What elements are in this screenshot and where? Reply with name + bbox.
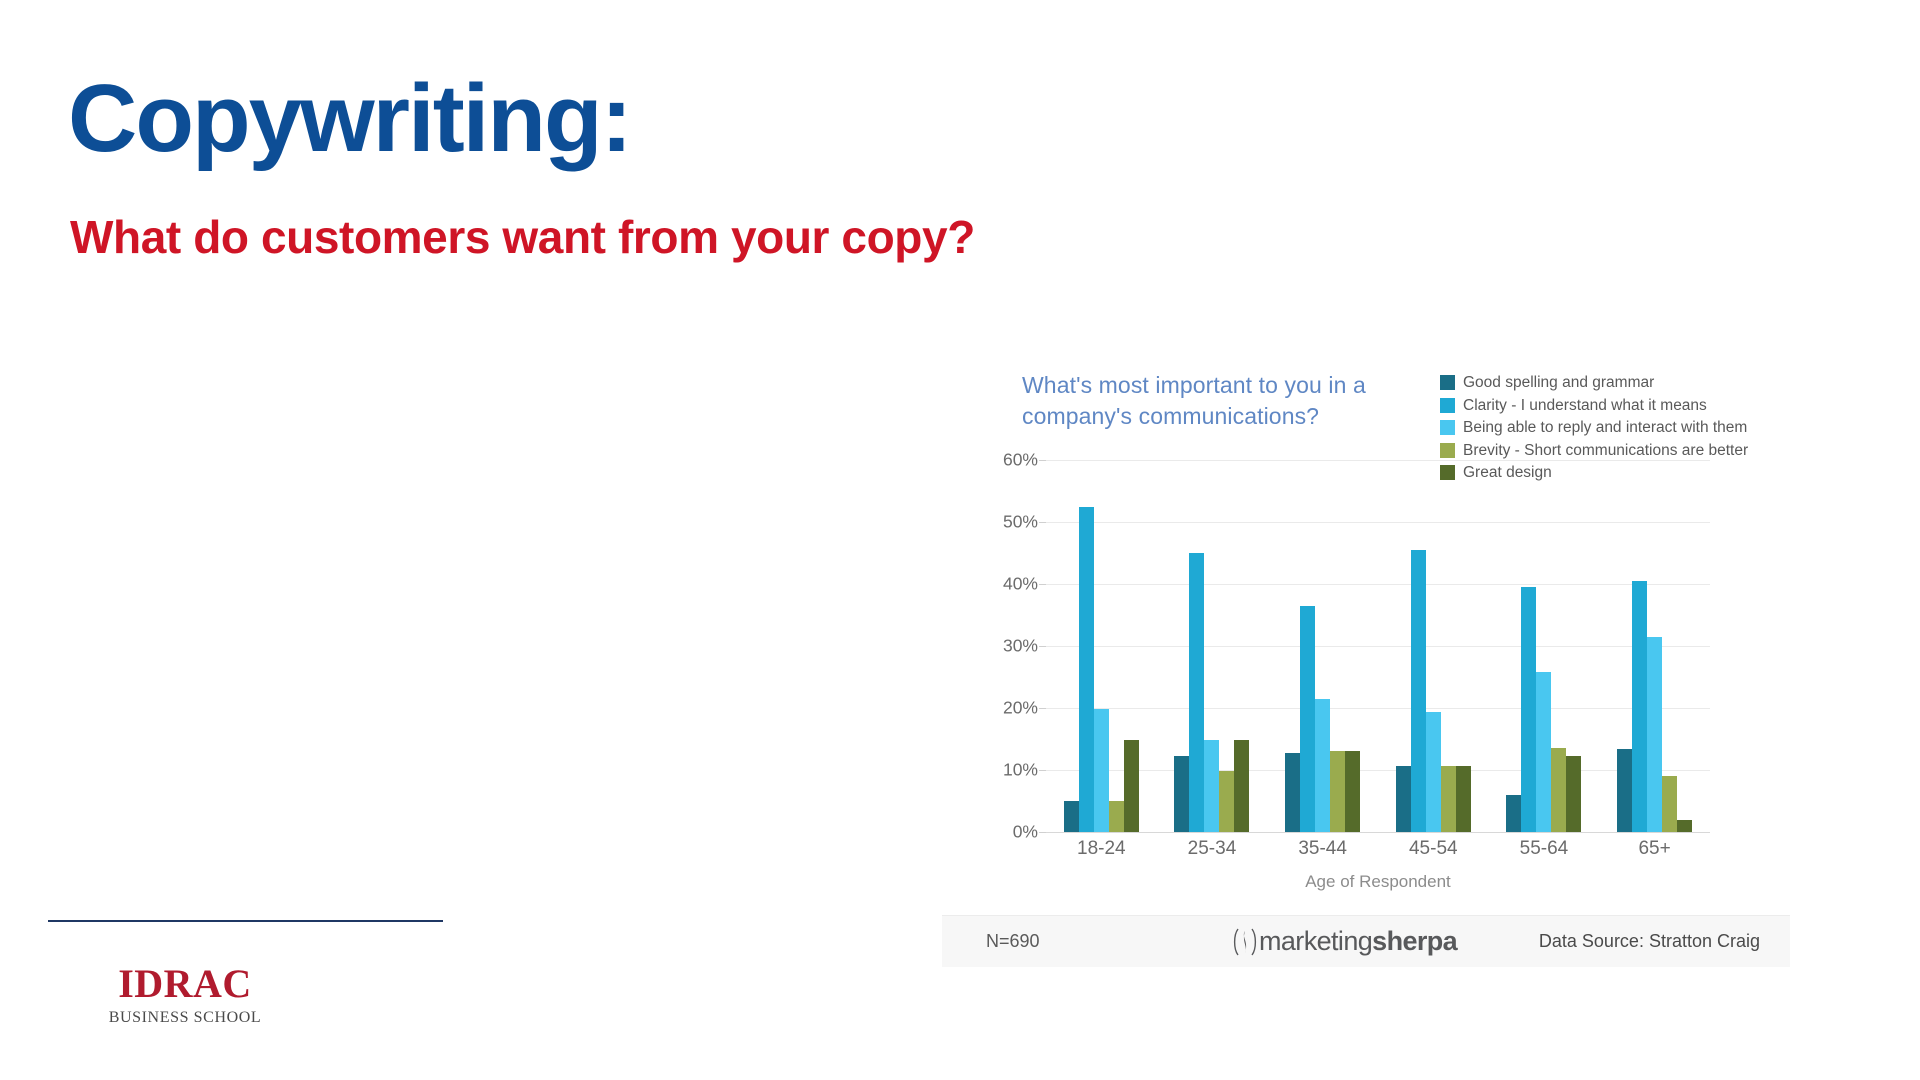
legend-item: Clarity - I understand what it means — [1440, 396, 1790, 419]
legend-item: Good spelling and grammar — [1440, 373, 1790, 396]
bar — [1521, 587, 1536, 832]
y-axis-tick-mark — [1039, 832, 1046, 833]
bar — [1300, 606, 1315, 832]
x-axis-tick-label: 55-64 — [1506, 838, 1581, 860]
x-axis-title: Age of Respondent — [1046, 872, 1710, 892]
data-source-label: Data Source: Stratton Craig — [1539, 931, 1760, 952]
y-axis-tick-mark — [1039, 646, 1046, 647]
chart-figure: What's most important to you in a compan… — [942, 362, 1790, 967]
bar-group — [1174, 460, 1249, 832]
chart-plot-area: 60%50%40%30%20%10%0% 18-2425-3435-4445-5… — [942, 460, 1790, 880]
bar — [1064, 801, 1079, 832]
y-axis-tick-mark — [1039, 584, 1046, 585]
bar — [1506, 795, 1521, 832]
x-axis-tick-label: 18-24 — [1064, 838, 1139, 860]
bar — [1647, 637, 1662, 832]
y-axis-tick-mark — [1039, 708, 1046, 709]
bar — [1234, 740, 1249, 832]
idrac-wordmark: IDRAC — [85, 964, 285, 1004]
y-axis-tick-label: 20% — [1003, 698, 1038, 719]
x-axis-tick-label: 25-34 — [1174, 838, 1249, 860]
marketingsherpa-mark-icon — [1232, 927, 1258, 957]
legend-swatch-icon — [1440, 375, 1455, 390]
x-axis-tick-labels: 18-2425-3435-4445-5455-6465+ — [1046, 838, 1710, 860]
page-title: Copywriting: — [68, 70, 631, 168]
bar — [1204, 740, 1219, 832]
legend-swatch-icon — [1440, 443, 1455, 458]
y-axis-tick-label: 0% — [1013, 822, 1038, 843]
bar — [1536, 672, 1551, 832]
bar — [1662, 776, 1677, 832]
y-axis-tick-mark — [1039, 770, 1046, 771]
sample-size-label: N=690 — [986, 931, 1040, 952]
x-axis-tick-label: 65+ — [1617, 838, 1692, 860]
bar — [1566, 756, 1581, 832]
bar-group — [1506, 460, 1581, 832]
bar — [1411, 550, 1426, 832]
bar — [1632, 581, 1647, 832]
y-axis-tick-label: 10% — [1003, 760, 1038, 781]
bar — [1094, 709, 1109, 832]
y-axis-tick-mark — [1039, 460, 1046, 461]
slide-canvas: Copywriting: What do customers want from… — [0, 0, 1920, 1080]
y-axis: 60%50%40%30%20%10%0% — [962, 460, 1038, 832]
y-axis-tick-label: 50% — [1003, 512, 1038, 533]
bar — [1285, 753, 1300, 832]
bar — [1079, 507, 1094, 833]
idrac-logo: IDRAC BUSINESS SCHOOL — [85, 964, 285, 1026]
y-axis-tick-mark — [1039, 522, 1046, 523]
chart-footer: N=690 marketing sherpa Data Source: Stra… — [942, 915, 1790, 967]
page-subtitle: What do customers want from your copy? — [70, 212, 975, 263]
gridline — [1046, 832, 1710, 833]
legend-item-label: Being able to reply and interact with th… — [1463, 418, 1747, 437]
bar — [1345, 751, 1360, 832]
idrac-tagline: BUSINESS SCHOOL — [85, 1010, 285, 1026]
bar — [1315, 699, 1330, 832]
marketingsherpa-logo: marketing sherpa — [1232, 926, 1457, 957]
bar — [1551, 748, 1566, 832]
bar — [1396, 766, 1411, 832]
brand-name-bold: sherpa — [1372, 926, 1457, 957]
legend-item: Being able to reply and interact with th… — [1440, 418, 1790, 441]
bar — [1124, 740, 1139, 832]
bar-group — [1396, 460, 1471, 832]
legend-swatch-icon — [1440, 420, 1455, 435]
y-axis-tick-label: 60% — [1003, 450, 1038, 471]
chart-header: What's most important to you in a compan… — [942, 362, 1790, 474]
bar — [1441, 766, 1456, 832]
bar — [1426, 712, 1441, 832]
y-axis-tick-label: 40% — [1003, 574, 1038, 595]
y-axis-tick-label: 30% — [1003, 636, 1038, 657]
x-axis-tick-label: 35-44 — [1285, 838, 1360, 860]
x-axis-tick-label: 45-54 — [1396, 838, 1471, 860]
bar — [1677, 820, 1692, 832]
bar — [1109, 801, 1124, 832]
bar — [1617, 749, 1632, 832]
legend-item-label: Clarity - I understand what it means — [1463, 396, 1707, 415]
chart-bars — [1046, 460, 1710, 832]
bar — [1189, 553, 1204, 832]
bar — [1330, 751, 1345, 832]
chart-title: What's most important to you in a compan… — [1022, 370, 1382, 432]
legend-item-label: Good spelling and grammar — [1463, 373, 1654, 392]
bar-group — [1285, 460, 1360, 832]
bar — [1456, 766, 1471, 832]
bar — [1174, 756, 1189, 832]
logo-divider — [48, 920, 443, 922]
legend-swatch-icon — [1440, 398, 1455, 413]
bar-group — [1617, 460, 1692, 832]
brand-name-light: marketing — [1259, 926, 1372, 957]
legend-item-label: Brevity - Short communications are bette… — [1463, 441, 1748, 460]
bar-group — [1064, 460, 1139, 832]
bar — [1219, 771, 1234, 832]
